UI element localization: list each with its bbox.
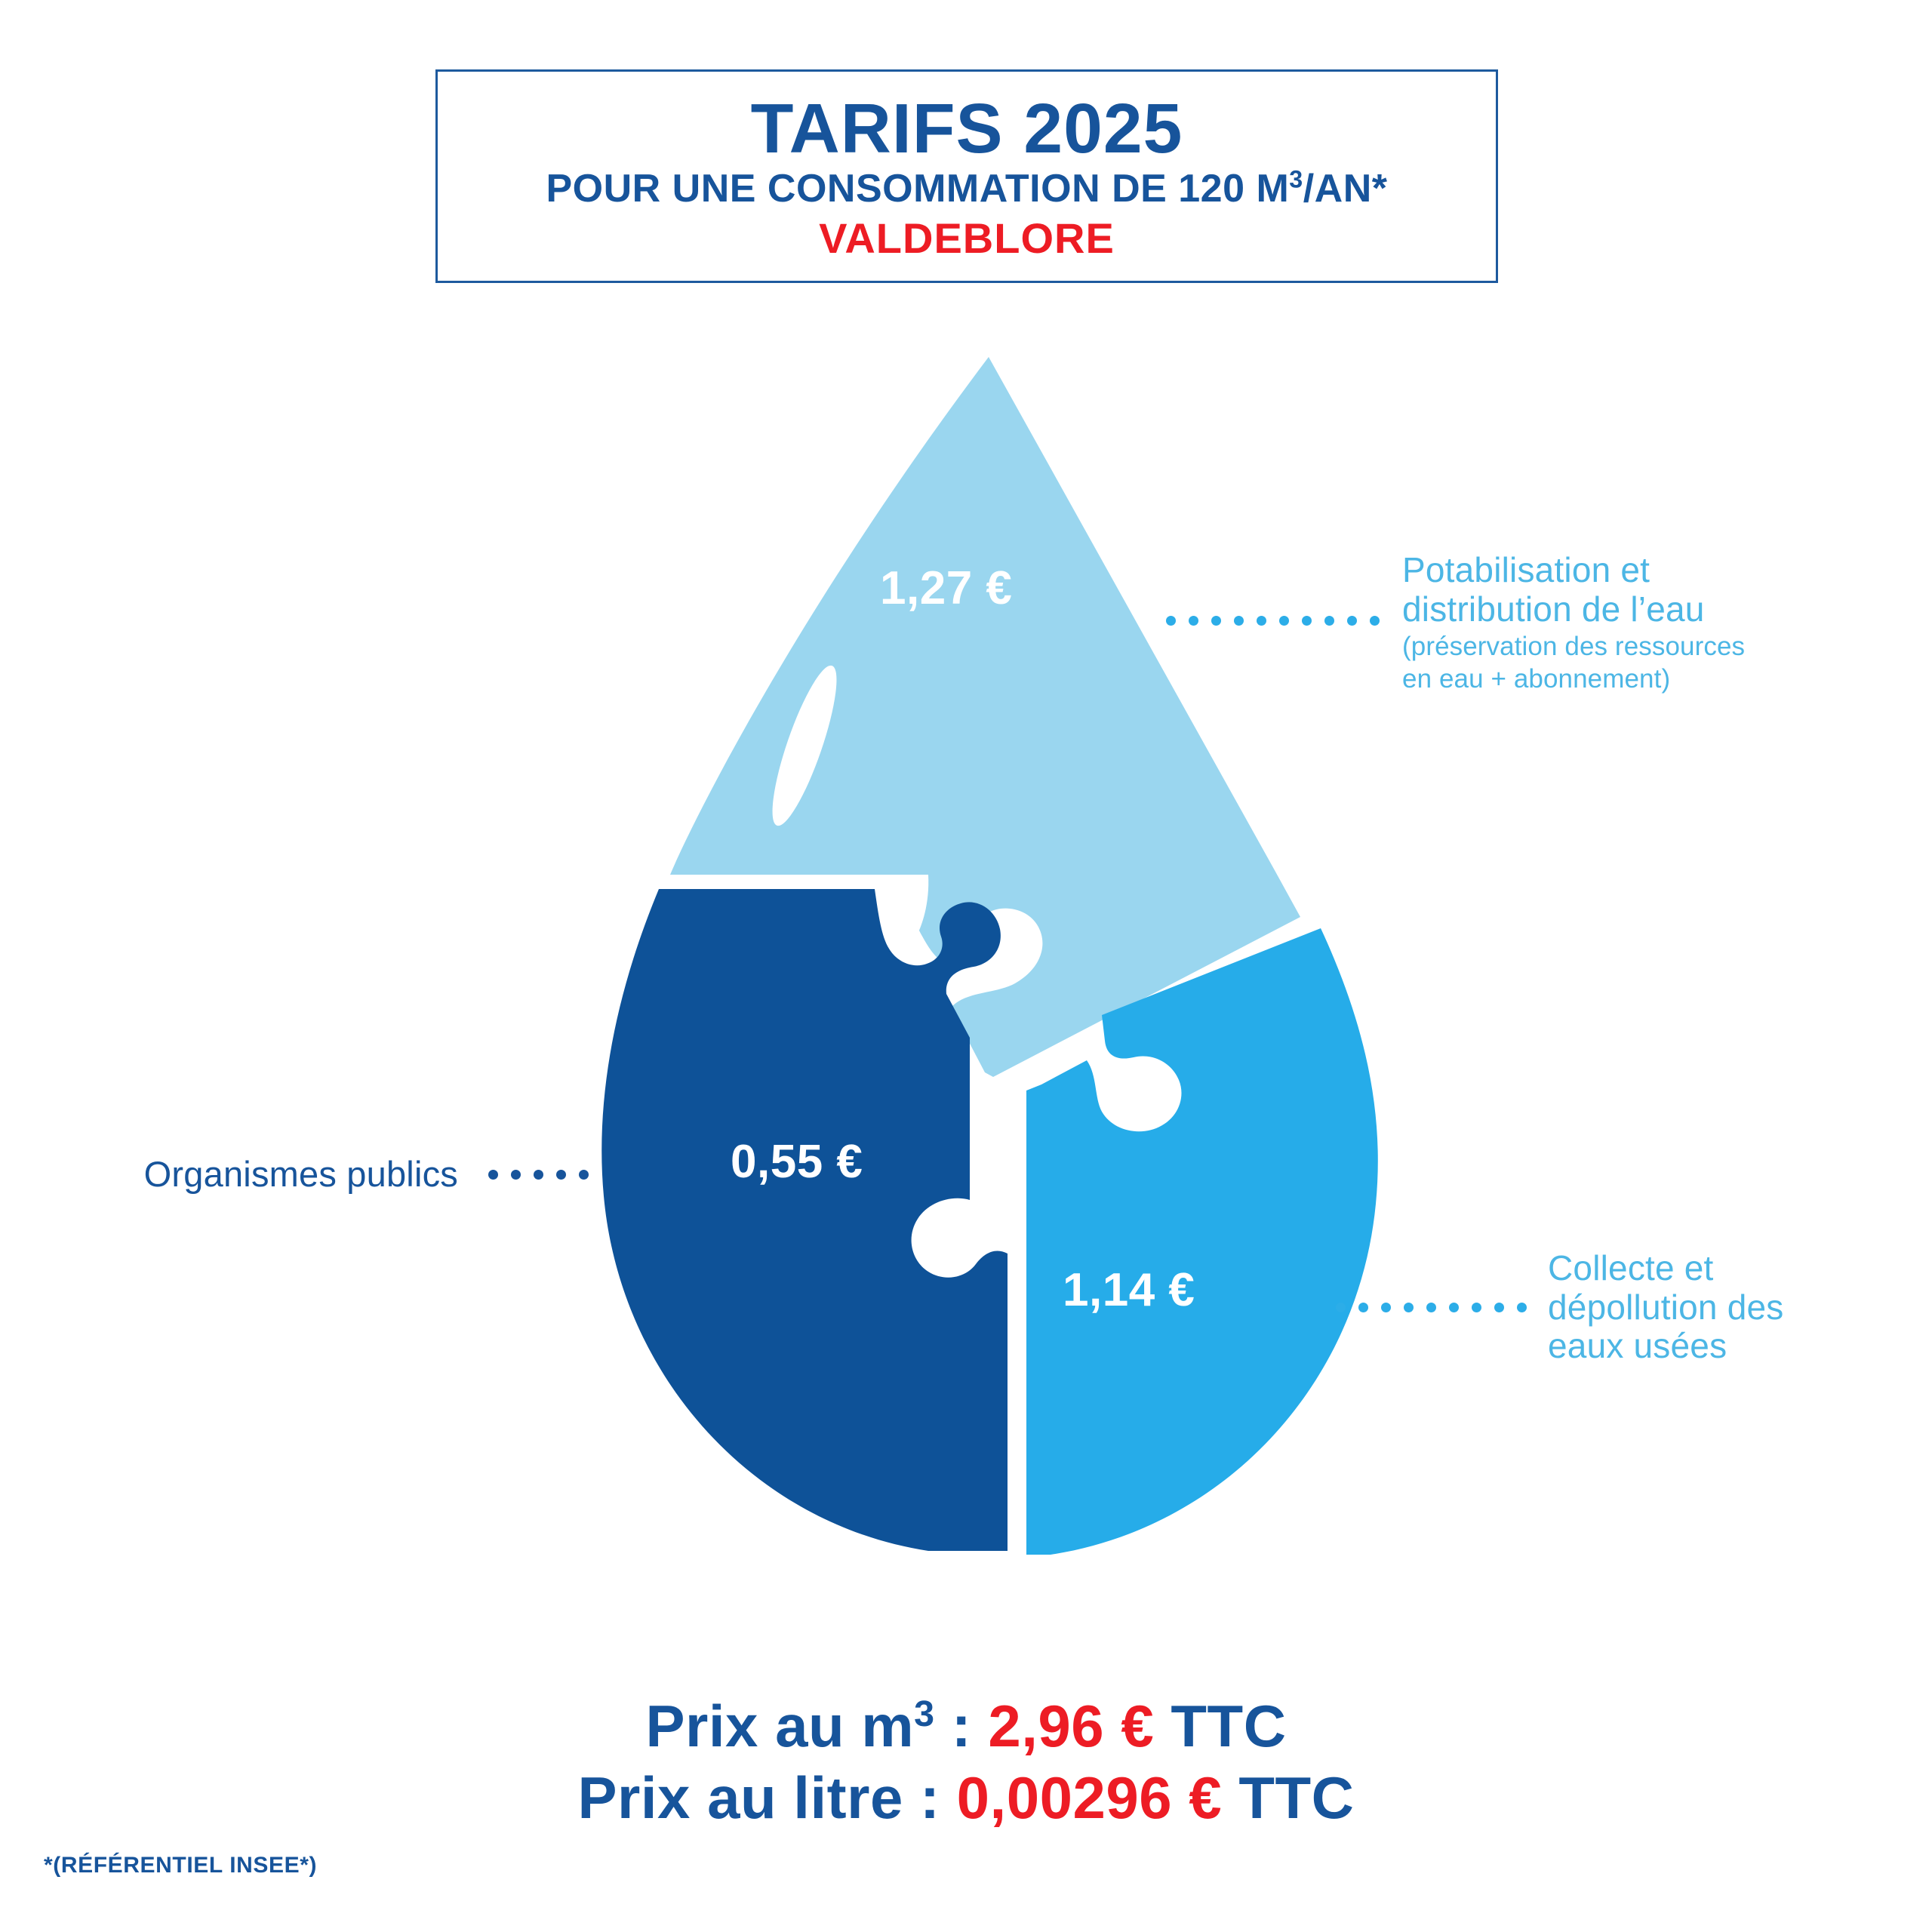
callout-collecte-line1: Collecte et	[1548, 1249, 1783, 1288]
leader-dots-collecte	[1336, 1303, 1527, 1312]
segment-value-potabilisation: 1,27 €	[880, 562, 1012, 614]
subtitle-suffix: /AN*	[1303, 167, 1388, 211]
callout-organismes-label: Organismes publics	[144, 1155, 458, 1195]
subtitle-prefix: POUR UNE CONSOMMATION DE 120 M	[546, 167, 1289, 211]
drop-svg: 1,27 € 0,55 € 1,14 €	[574, 343, 1404, 1574]
subtitle-superscript: 3	[1289, 166, 1303, 193]
header-box: TARIFS 2025 POUR UNE CONSOMMATION DE 120…	[435, 69, 1498, 283]
callout-collecte-line2: dépollution des	[1548, 1288, 1783, 1327]
callout-potabilisation-sub1: (préservation des ressources	[1402, 632, 1745, 661]
segment-value-organismes: 0,55 €	[731, 1136, 863, 1188]
callout-potabilisation-sub2: en eau + abonnement)	[1402, 664, 1745, 694]
price-per-litre: Prix au litre : 0,00296 € TTC	[0, 1762, 1932, 1834]
price-litre-label: Prix au litre :	[578, 1764, 957, 1831]
leader-dots-potabilisation	[1166, 557, 1380, 626]
price-m3-label: Prix au m	[645, 1693, 914, 1759]
price-summary: Prix au m3 : 2,96 € TTC Prix au litre : …	[0, 1690, 1932, 1834]
footnote: *(RÉFÉRENTIEL INSEE*)	[44, 1853, 317, 1878]
price-m3-ttc: TTC	[1154, 1693, 1286, 1759]
price-per-m3: Prix au m3 : 2,96 € TTC	[0, 1690, 1932, 1762]
callout-collecte-line3: eaux usées	[1548, 1327, 1783, 1366]
callout-collecte: Collecte et dépollution des eaux usées	[1336, 1249, 1909, 1366]
water-drop-chart: 1,27 € 0,55 € 1,14 €	[574, 343, 1404, 1574]
callout-potabilisation: Potabilisation et distribution de l’eau …	[1166, 551, 1906, 694]
page-title: TARIFS 2025	[751, 93, 1183, 165]
price-m3-superscript: 3	[914, 1694, 934, 1734]
leader-dots-organismes	[488, 1170, 589, 1180]
price-litre-value: 0,00296 €	[957, 1764, 1223, 1831]
callout-potabilisation-line2: distribution de l’eau	[1402, 590, 1745, 629]
callout-collecte-text: Collecte et dépollution des eaux usées	[1548, 1249, 1783, 1366]
page-subtitle: POUR UNE CONSOMMATION DE 120 M3/AN*	[546, 169, 1387, 209]
callout-potabilisation-text: Potabilisation et distribution de l’eau …	[1402, 551, 1745, 694]
price-m3-value: 2,96 €	[988, 1693, 1154, 1759]
callout-potabilisation-line1: Potabilisation et	[1402, 551, 1745, 590]
segment-value-collecte: 1,14 €	[1063, 1264, 1195, 1316]
drop-segment-organismes[interactable]: 0,55 €	[601, 889, 1008, 1551]
price-m3-colon: :	[935, 1693, 989, 1759]
price-litre-ttc: TTC	[1222, 1764, 1354, 1831]
city-name: VALDEBLORE	[819, 217, 1115, 260]
callout-organismes: Organismes publics	[15, 1155, 589, 1195]
